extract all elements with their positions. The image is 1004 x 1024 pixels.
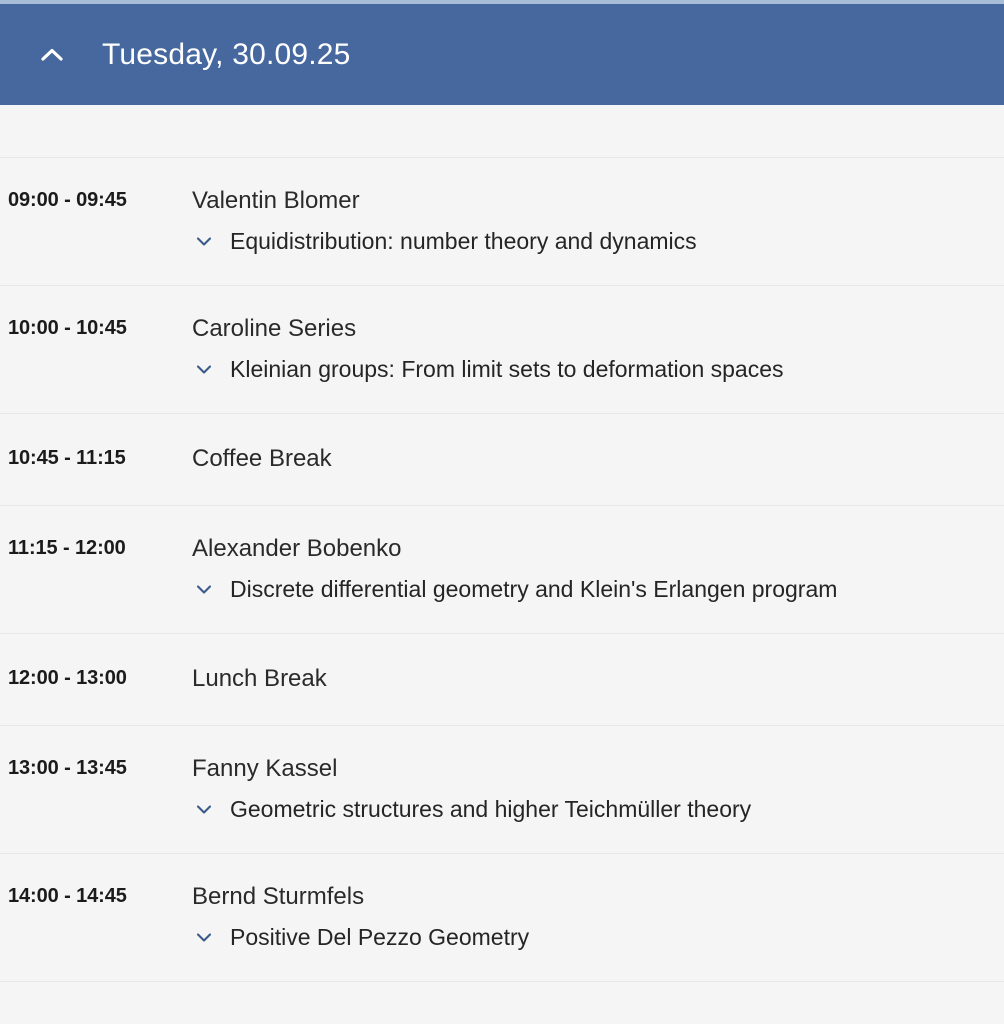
schedule-page: Tuesday, 30.09.25 09:00 - 09:45 Valentin… (0, 0, 1004, 1024)
chevron-down-icon[interactable] (192, 229, 216, 253)
slot-talk-title: Geometric structures and higher Teichmül… (230, 794, 751, 824)
chevron-up-icon[interactable] (34, 37, 70, 73)
header-gap-band (0, 105, 1004, 158)
schedule-row[interactable]: 14:00 - 14:45 Bernd Sturmfels Positive D… (0, 854, 1004, 982)
chevron-down-icon[interactable] (192, 577, 216, 601)
slot-speaker: Fanny Kassel (192, 754, 988, 784)
slot-talk-row[interactable]: Discrete differential geometry and Klein… (192, 574, 988, 604)
slot-talk-row[interactable]: Positive Del Pezzo Geometry (192, 922, 988, 952)
slot-time: 11:15 - 12:00 (0, 534, 192, 562)
slot-speaker: Caroline Series (192, 314, 988, 344)
slot-speaker: Coffee Break (192, 444, 988, 474)
chevron-down-icon[interactable] (192, 797, 216, 821)
day-title: Tuesday, 30.09.25 (102, 38, 351, 72)
chevron-down-icon[interactable] (192, 925, 216, 949)
schedule-row[interactable]: 10:45 - 11:15 Coffee Break (0, 414, 1004, 506)
slot-talk-title: Kleinian groups: From limit sets to defo… (230, 354, 784, 384)
schedule-row[interactable]: 10:00 - 10:45 Caroline Series Kleinian g… (0, 286, 1004, 414)
slot-body: Alexander Bobenko Discrete differential … (192, 534, 1004, 604)
slot-time: 14:00 - 14:45 (0, 882, 192, 910)
chevron-down-icon[interactable] (192, 357, 216, 381)
schedule-row[interactable]: 09:00 - 09:45 Valentin Blomer Equidistri… (0, 158, 1004, 286)
slot-time: 10:00 - 10:45 (0, 314, 192, 342)
slot-time: 09:00 - 09:45 (0, 186, 192, 214)
schedule-row[interactable]: 11:15 - 12:00 Alexander Bobenko Discrete… (0, 506, 1004, 634)
slot-talk-title: Discrete differential geometry and Klein… (230, 574, 837, 604)
slot-talk-title: Equidistribution: number theory and dyna… (230, 226, 697, 256)
slot-body: Coffee Break (192, 444, 1004, 474)
slot-time: 13:00 - 13:45 (0, 754, 192, 782)
slot-speaker: Bernd Sturmfels (192, 882, 988, 912)
slot-body: Lunch Break (192, 664, 1004, 694)
slot-body: Bernd Sturmfels Positive Del Pezzo Geome… (192, 882, 1004, 952)
slot-talk-title: Positive Del Pezzo Geometry (230, 922, 529, 952)
slot-talk-row[interactable]: Kleinian groups: From limit sets to defo… (192, 354, 988, 384)
slot-time: 12:00 - 13:00 (0, 664, 192, 692)
slot-speaker: Lunch Break (192, 664, 988, 694)
slot-time: 10:45 - 11:15 (0, 444, 192, 472)
slot-body: Fanny Kassel Geometric structures and hi… (192, 754, 1004, 824)
slot-talk-row[interactable]: Geometric structures and higher Teichmül… (192, 794, 988, 824)
slot-body: Caroline Series Kleinian groups: From li… (192, 314, 1004, 384)
slot-speaker: Alexander Bobenko (192, 534, 988, 564)
slot-body: Valentin Blomer Equidistribution: number… (192, 186, 1004, 256)
slot-talk-row[interactable]: Equidistribution: number theory and dyna… (192, 226, 988, 256)
slot-speaker: Valentin Blomer (192, 186, 988, 216)
schedule-row[interactable]: 12:00 - 13:00 Lunch Break (0, 634, 1004, 726)
schedule-list: 09:00 - 09:45 Valentin Blomer Equidistri… (0, 158, 1004, 982)
day-header[interactable]: Tuesday, 30.09.25 (0, 4, 1004, 105)
schedule-row[interactable]: 13:00 - 13:45 Fanny Kassel Geometric str… (0, 726, 1004, 854)
